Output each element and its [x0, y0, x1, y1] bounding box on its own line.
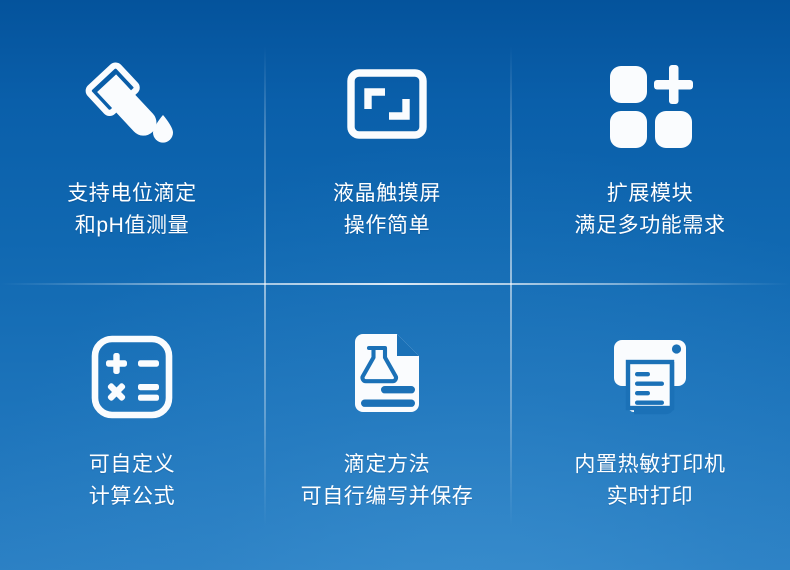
- caption-line: 操作简单: [333, 210, 441, 242]
- caption-line: 扩展模块: [574, 178, 725, 210]
- caption-line: 液晶触摸屏: [333, 178, 441, 210]
- feature-card-thermal-printer[interactable]: 内置热敏打印机 实时打印: [510, 283, 790, 570]
- feature-card-custom-formula[interactable]: 可自定义 计算公式: [0, 283, 264, 570]
- feature-card-lcd-touch-screen[interactable]: 液晶触摸屏 操作简单: [264, 0, 510, 283]
- caption-line: 和pH值测量: [67, 210, 197, 242]
- tilted-test-tube-drop-icon: [78, 56, 186, 156]
- touch-screen-frame-icon: [333, 56, 441, 156]
- caption-line: 支持电位滴定: [67, 178, 197, 210]
- caption-line: 实时打印: [574, 481, 725, 513]
- caption-line: 可自定义: [89, 449, 175, 481]
- feature-caption: 滴定方法 可自行编写并保存: [301, 449, 474, 513]
- feature-caption: 液晶触摸屏 操作简单: [333, 178, 441, 242]
- feature-caption: 支持电位滴定 和pH值测量: [67, 178, 197, 242]
- feature-card-titration-method[interactable]: 滴定方法 可自行编写并保存: [264, 283, 510, 570]
- feature-card-expansion-modules[interactable]: 扩展模块 满足多功能需求: [510, 0, 790, 283]
- feature-caption: 扩展模块 满足多功能需求: [574, 178, 725, 242]
- feature-highlight-banner: 支持电位滴定 和pH值测量 液晶触摸屏 操作简单: [0, 0, 790, 570]
- calculator-icon: [78, 325, 186, 429]
- feature-card-potentiometric-titration[interactable]: 支持电位滴定 和pH值测量: [0, 0, 264, 283]
- feature-grid: 支持电位滴定 和pH值测量 液晶触摸屏 操作简单: [0, 0, 790, 570]
- feature-caption: 可自定义 计算公式: [89, 449, 175, 513]
- modules-plus-icon: [596, 56, 704, 156]
- thermal-printer-icon: [596, 325, 704, 429]
- caption-line: 可自行编写并保存: [301, 481, 474, 513]
- caption-line: 内置热敏打印机: [574, 449, 725, 481]
- caption-line: 滴定方法: [301, 449, 474, 481]
- feature-caption: 内置热敏打印机 实时打印: [574, 449, 725, 513]
- flask-document-icon: [333, 325, 441, 429]
- caption-line: 满足多功能需求: [574, 210, 725, 242]
- caption-line: 计算公式: [89, 481, 175, 513]
